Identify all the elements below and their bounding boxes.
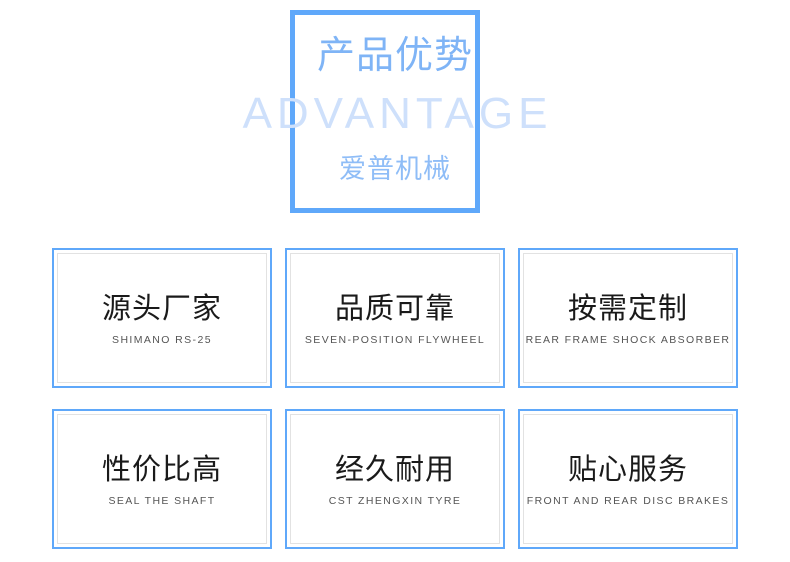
advantage-card: 品质可靠 SEVEN-POSITION FLYWHEEL	[285, 248, 505, 388]
advantage-card: 性价比高 SEAL THE SHAFT	[52, 409, 272, 549]
header-text-stack: 产品优势 ADVANTAGE 爱普机械	[0, 0, 790, 232]
advantage-card: 源头厂家 SHIMANO RS-25	[52, 248, 272, 388]
advantage-card: 贴心服务 FRONT AND REAR DISC BRAKES	[518, 409, 738, 549]
header-subtitle-chinese: 爱普机械	[339, 153, 451, 187]
card-subtitle: FRONT AND REAR DISC BRAKES	[527, 494, 730, 508]
card-subtitle: REAR FRAME SHOCK ABSORBER	[526, 333, 731, 347]
card-subtitle: CST ZHENGXIN TYRE	[329, 494, 462, 508]
advantage-card: 按需定制 REAR FRAME SHOCK ABSORBER	[518, 248, 738, 388]
card-subtitle: SHIMANO RS-25	[112, 333, 212, 347]
card-subtitle: SEVEN-POSITION FLYWHEEL	[305, 333, 485, 347]
card-title: 经久耐用	[335, 451, 455, 487]
card-title: 品质可靠	[335, 290, 455, 326]
advantage-card-grid: 源头厂家 SHIMANO RS-25 品质可靠 SEVEN-POSITION F…	[52, 248, 738, 549]
advantage-card: 经久耐用 CST ZHENGXIN TYRE	[285, 409, 505, 549]
card-title: 贴心服务	[568, 451, 688, 487]
header-title-english: ADVANTAGE	[238, 89, 553, 139]
card-title: 性价比高	[102, 451, 222, 487]
card-title: 按需定制	[568, 290, 688, 326]
card-subtitle: SEAL THE SHAFT	[108, 494, 215, 508]
card-title: 源头厂家	[102, 290, 222, 326]
advantage-banner: 产品优势 ADVANTAGE 爱普机械 源头厂家 SHIMANO RS-25 品…	[0, 0, 790, 562]
header-section: 产品优势 ADVANTAGE 爱普机械	[0, 0, 790, 232]
header-title-chinese: 产品优势	[317, 33, 473, 77]
